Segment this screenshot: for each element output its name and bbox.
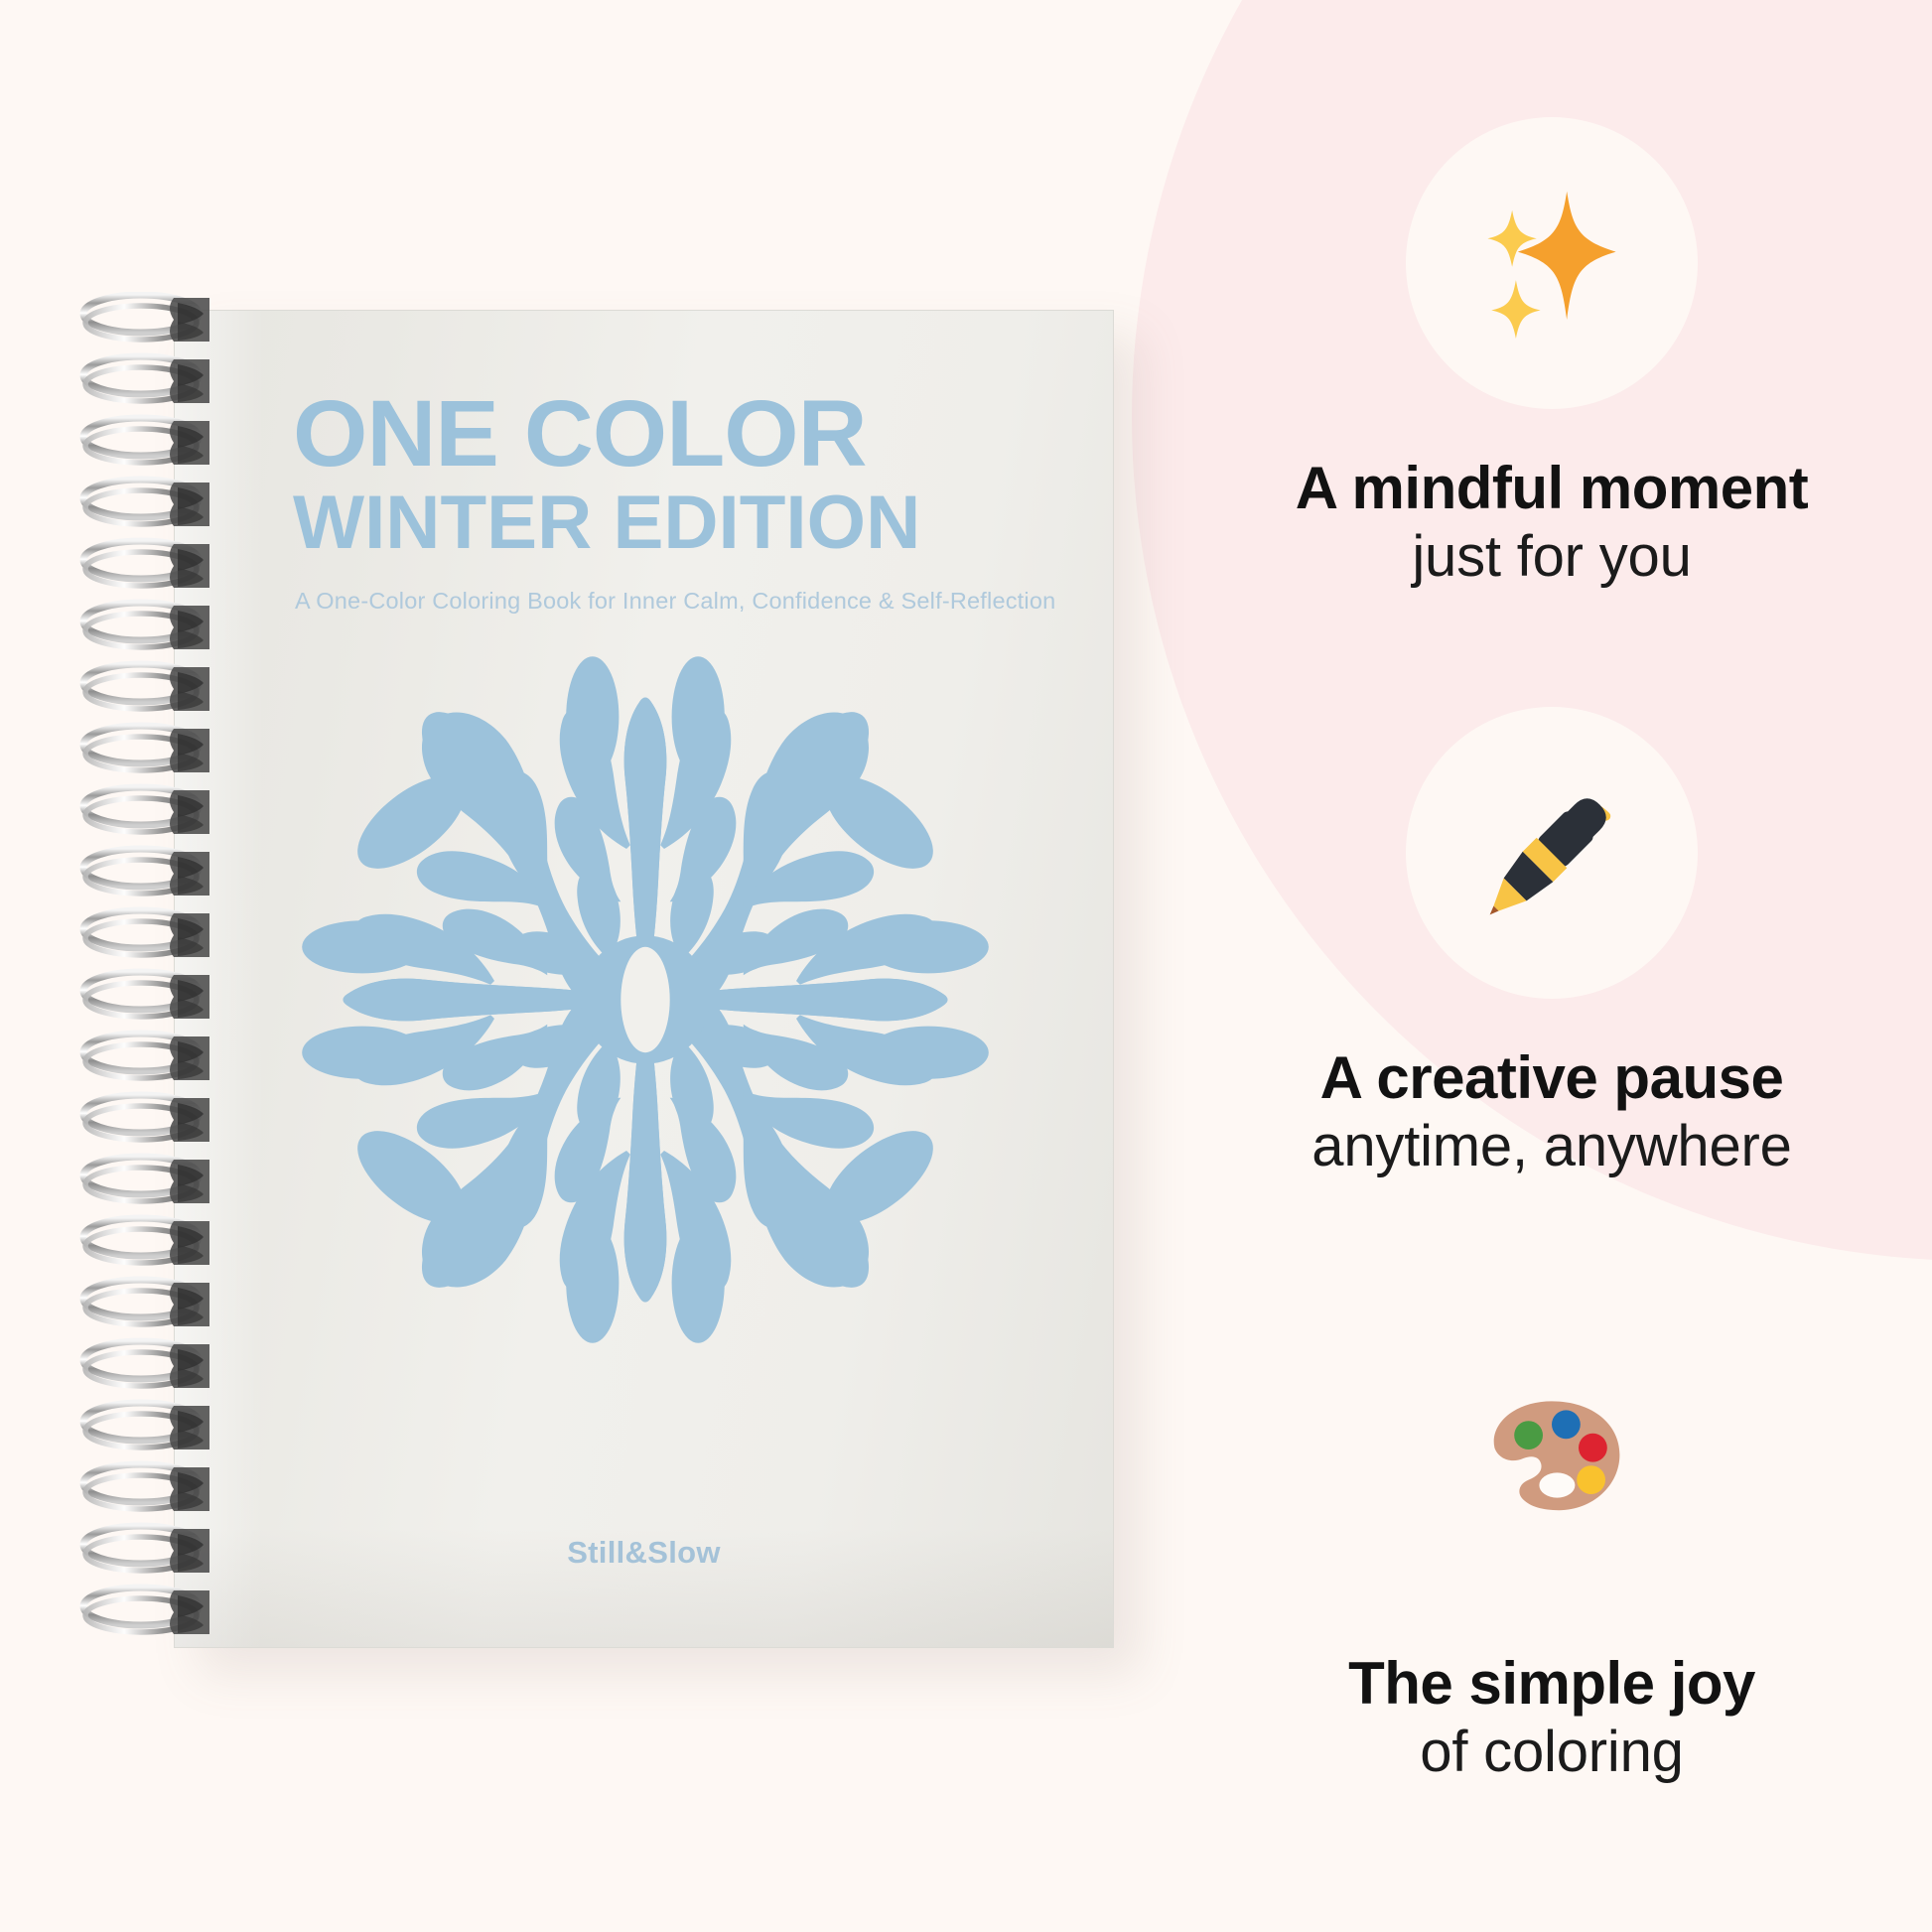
coloring-book-mockup[interactable]: ONE COLOR WINTER EDITION A One-Color Col…: [174, 310, 1114, 1648]
sparkles-icon: [1457, 169, 1646, 357]
feature-subtitle: of coloring: [1172, 1721, 1932, 1785]
feature-subtitle: just for you: [1172, 525, 1932, 590]
feature-item-simple-joy: The simple joy of coloring: [1172, 1312, 1932, 1785]
feature-list: A mindful moment just for you: [1172, 0, 1932, 1932]
icon-badge: [1406, 1312, 1698, 1604]
icon-badge: [1406, 117, 1698, 409]
feature-item-creative-pause: A creative pause anytime, anywhere: [1172, 707, 1932, 1179]
feature-title: A creative pause: [1172, 1044, 1932, 1111]
brand-name: Still&Slow: [174, 1535, 1114, 1571]
palette-icon: [1462, 1369, 1641, 1548]
snowflake-motif-icon: [268, 598, 1023, 1402]
pen-icon: [1462, 763, 1641, 942]
feature-title: The simple joy: [1172, 1650, 1932, 1717]
feature-subtitle: anytime, anywhere: [1172, 1115, 1932, 1179]
feature-item-mindful-moment: A mindful moment just for you: [1172, 117, 1932, 590]
book-title-line2: WINTER EDITION: [293, 484, 1048, 562]
feature-title: A mindful moment: [1172, 455, 1932, 521]
cover-sheen: [175, 311, 264, 1647]
product-listing-canvas: ONE COLOR WINTER EDITION A One-Color Col…: [0, 0, 1932, 1932]
book-title-line1: ONE COLOR: [293, 389, 1059, 479]
cover-text-block: ONE COLOR WINTER EDITION A One-Color Col…: [293, 389, 1044, 615]
icon-badge: [1406, 707, 1698, 999]
